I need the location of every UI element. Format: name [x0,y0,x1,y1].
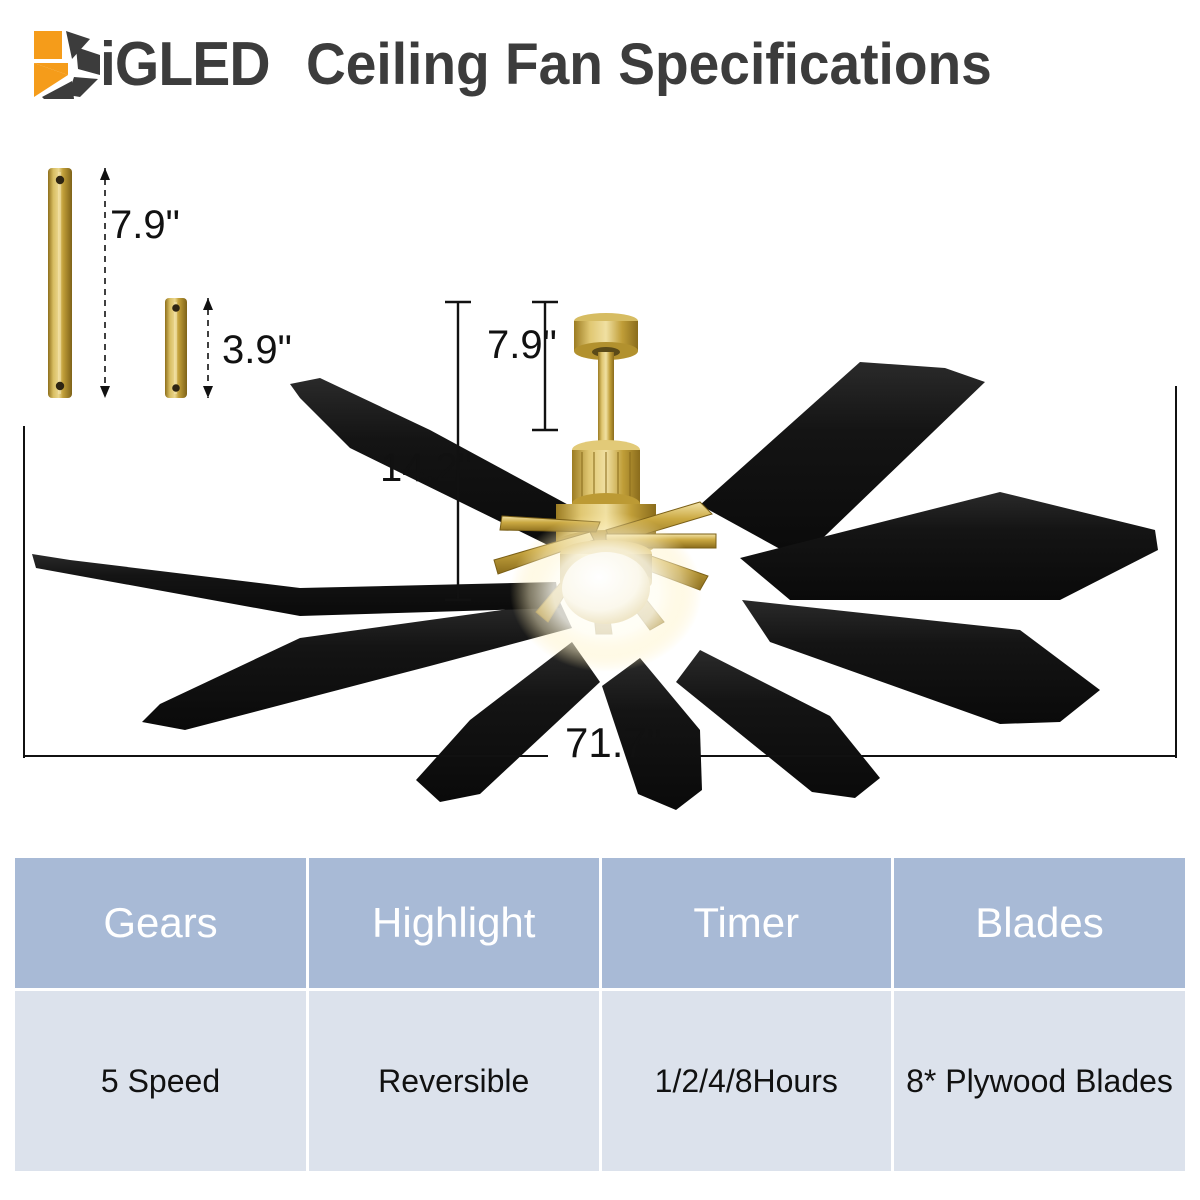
dimension-label-downrod-long: 7.9" [110,205,180,245]
digled-shutter-logo-icon [28,29,106,101]
dimension-downrod-short [203,298,213,398]
downrod-short [165,298,187,398]
fan-canopy-and-rod [574,313,638,448]
page-header: iGLED Ceiling Fan Specifications [0,0,1200,130]
table-header-gears: Gears [15,858,308,990]
dimension-label-fan-height: 14.2" [380,448,472,488]
downrod-long [48,168,72,398]
table-cell-gears: 5 Speed [15,990,308,1172]
dimension-label-fan-drop: 7.9" [487,325,557,365]
table-header-timer: Timer [600,858,893,990]
brand-name: iGLED [100,34,270,96]
table-row: 5 Speed Reversible 1/2/4/8Hours 8* Plywo… [15,990,1185,1172]
fan-dimension-diagram: 7.9" 3.9" 7.9" 14.2" 71.7" [0,130,1200,830]
dimension-label-fan-width: 71.7" [565,722,662,764]
table-header-row: Gears Highlight Timer Blades [15,858,1185,990]
dimension-downrod-long [100,168,110,398]
page-title: Ceiling Fan Specifications [306,36,992,94]
led-light [510,512,702,672]
table-cell-timer: 1/2/4/8Hours [600,990,893,1172]
table-header-highlight: Highlight [308,858,601,990]
specifications-table: Gears Highlight Timer Blades 5 Speed Rev… [15,858,1185,1171]
table-header-blades: Blades [893,858,1186,990]
table-cell-blades: 8* Plywood Blades [893,990,1186,1172]
table-cell-highlight: Reversible [308,990,601,1172]
dimension-label-downrod-short: 3.9" [222,330,292,370]
brand-logo: iGLED [28,29,284,101]
